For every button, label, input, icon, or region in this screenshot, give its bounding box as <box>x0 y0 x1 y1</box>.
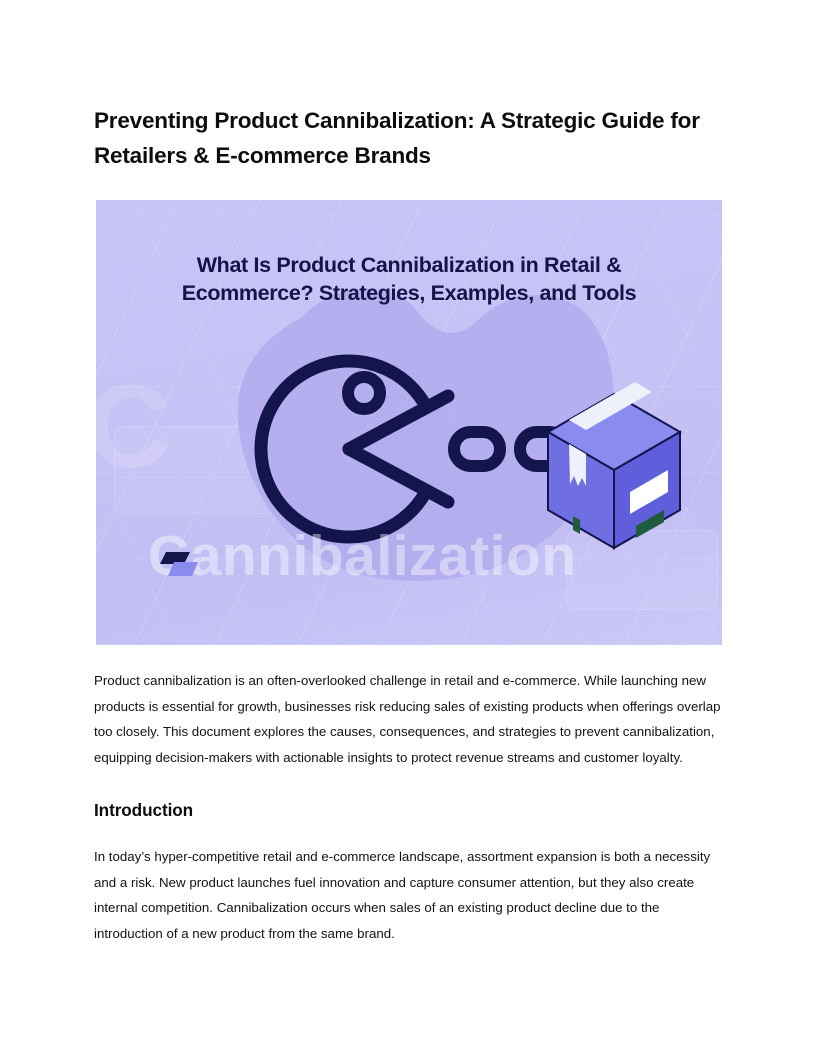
lede-paragraph: Product cannibalization is an often-over… <box>94 668 726 771</box>
hero-headline: What Is Product Cannibalization in Retai… <box>96 252 722 308</box>
brand-logo-icon <box>158 548 202 582</box>
section-heading-introduction: Introduction <box>94 800 193 821</box>
page-title: Preventing Product Cannibalization: A St… <box>94 104 714 174</box>
hero-banner-image: C V M <box>96 200 722 645</box>
document-page: Preventing Product Cannibalization: A St… <box>0 0 816 1056</box>
section-body-introduction: In today’s hyper-competitive retail and … <box>94 844 726 947</box>
